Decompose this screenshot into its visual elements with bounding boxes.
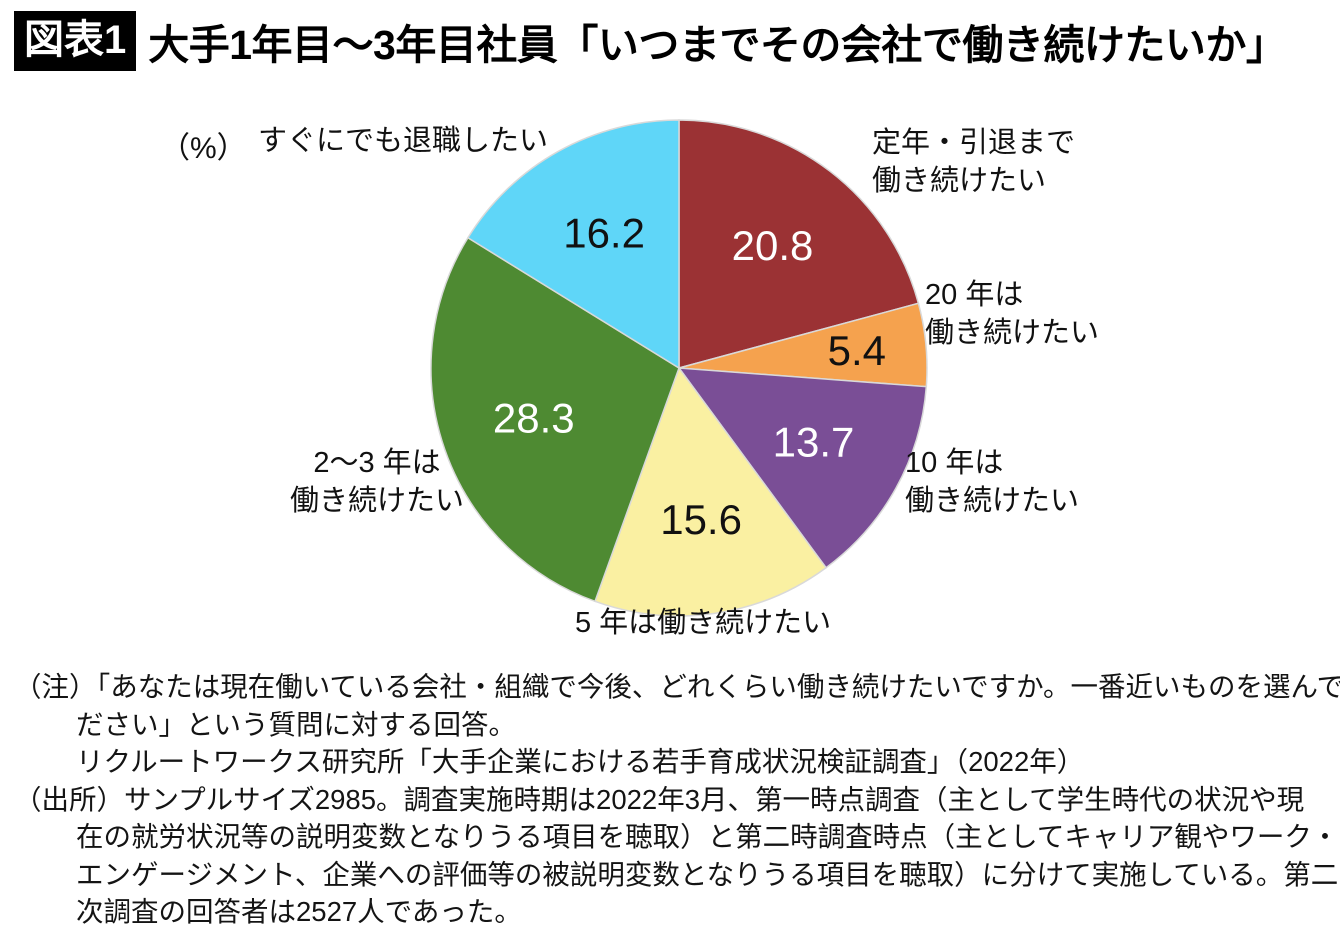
source-line-4: 次調査の回答者は2527人であった。	[14, 893, 1340, 931]
footnotes: （注）「あなたは現在働いている会社・組織で今後、どれくらい働き続けたいですか。一…	[0, 668, 1340, 931]
callout-5years: 5 年は働き続けたい	[575, 605, 831, 643]
callout-5years-line1: 5 年は働き続けたい	[575, 605, 831, 643]
pie-chart-area: （%） 20.85.413.715.628.316.2 定年・引退まで 働き続け…	[0, 95, 1340, 660]
figure-title-bar: 図表1 大手1年目〜3年目社員「いつまでその会社で働き続けたいか」	[14, 10, 1286, 72]
callout-10years-line1: 10 年は	[905, 445, 1079, 483]
note-line-2: ださい」という質問に対する回答。	[14, 706, 1340, 744]
callout-2to3years: 2〜3 年は 働き続けたい	[290, 445, 464, 520]
callout-teinen-line1: 定年・引退まで	[872, 125, 1075, 163]
callout-20years-line1: 20 年は	[925, 277, 1099, 315]
callout-20years-line2: 働き続けたい	[925, 315, 1099, 353]
note-line-1: （注）「あなたは現在働いている会社・組織で今後、どれくらい働き続けたいですか。一…	[14, 668, 1340, 706]
source-line-2: 在の就労状況等の説明変数となりうる項目を聴取）と第二時調査時点（主としてキャリア…	[14, 818, 1340, 856]
callout-2to3years-line2: 働き続けたい	[290, 483, 464, 521]
pie-chart-svg: 20.85.413.715.628.316.2	[0, 95, 1340, 660]
callout-quit-now-line1: すぐにでも退職したい	[258, 123, 548, 161]
source-line-1: （出所）サンプルサイズ2985。調査実施時期は2022年3月、第一時点調査（主と…	[14, 781, 1340, 819]
pie-slice-value-label: 16.2	[563, 210, 645, 257]
callout-teinen: 定年・引退まで 働き続けたい	[872, 125, 1075, 200]
callout-2to3years-line1: 2〜3 年は	[290, 445, 464, 483]
callout-20years: 20 年は 働き続けたい	[925, 277, 1099, 352]
pie-slice-value-label: 5.4	[828, 327, 886, 374]
callout-10years-line2: 働き続けたい	[905, 483, 1079, 521]
pie-slice-value-label: 28.3	[493, 395, 575, 442]
pie-slice-value-label: 13.7	[773, 419, 855, 466]
page-title: 大手1年目〜3年目社員「いつまでその会社で働き続けたいか」	[148, 11, 1286, 71]
callout-teinen-line2: 働き続けたい	[872, 163, 1075, 201]
pie-slice-value-label: 15.6	[660, 496, 742, 543]
figure-number-badge: 図表1	[14, 11, 136, 71]
source-block: （出所）サンプルサイズ2985。調査実施時期は2022年3月、第一時点調査（主と…	[0, 781, 1340, 931]
note-block: （注）「あなたは現在働いている会社・組織で今後、どれくらい働き続けたいですか。一…	[0, 668, 1340, 781]
note-line-3: リクルートワークス研究所「大手企業における若手育成状況検証調査」（2022年）	[14, 743, 1340, 781]
source-line-3: エンゲージメント、企業への評価等の被説明変数となりうる項目を聴取）に分けて実施し…	[14, 856, 1340, 894]
pie-slice-value-label: 20.8	[732, 222, 814, 269]
callout-10years: 10 年は 働き続けたい	[905, 445, 1079, 520]
callout-quit-now: すぐにでも退職したい	[258, 123, 548, 161]
